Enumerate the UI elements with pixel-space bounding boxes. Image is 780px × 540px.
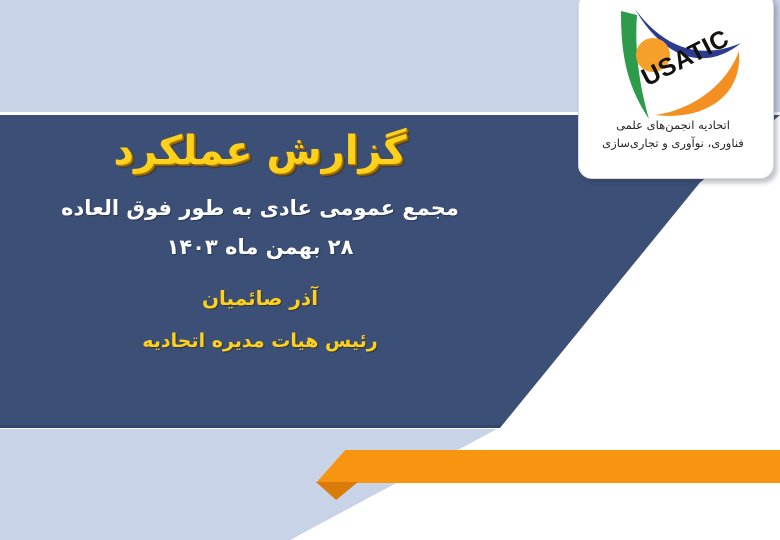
logo-persian-caption: اتحادیه انجمن‌های علمی فناوری، نوآوری و … [579, 117, 767, 153]
usatic-logo-card: USATIC اتحادیه انجمن‌های علمی فناوری، نو… [578, 0, 774, 179]
orange-ribbon [316, 450, 780, 483]
speaker-name: آذر صائمیان [0, 287, 520, 309]
page-title: گزارش عملکرد [0, 126, 520, 177]
bottom-light-band [0, 429, 780, 540]
slide-subtitle: مجمع عمومی عادی به طور فوق العاده ۲۸ بهم… [0, 197, 520, 259]
slide-text-block: گزارش عملکرد مجمع عمومی عادی به طور فوق … [0, 126, 520, 352]
subtitle-line-2: ۲۸ بهمن ماه ۱۴۰۳ [0, 236, 520, 259]
logo-persian-line-2: فناوری، نوآوری و تجاری‌سازی [579, 135, 767, 153]
logo-persian-line-1: اتحادیه انجمن‌های علمی [579, 117, 767, 135]
speaker-block: آذر صائمیان رئیس هیات مدیره اتحادیه [0, 287, 520, 352]
speaker-role: رئیس هیات مدیره اتحادیه [0, 331, 520, 352]
subtitle-line-1: مجمع عمومی عادی به طور فوق العاده [0, 197, 520, 220]
navy-bottom-edge [0, 425, 780, 428]
presentation-slide: گزارش عملکرد مجمع عمومی عادی به طور فوق … [0, 0, 780, 540]
